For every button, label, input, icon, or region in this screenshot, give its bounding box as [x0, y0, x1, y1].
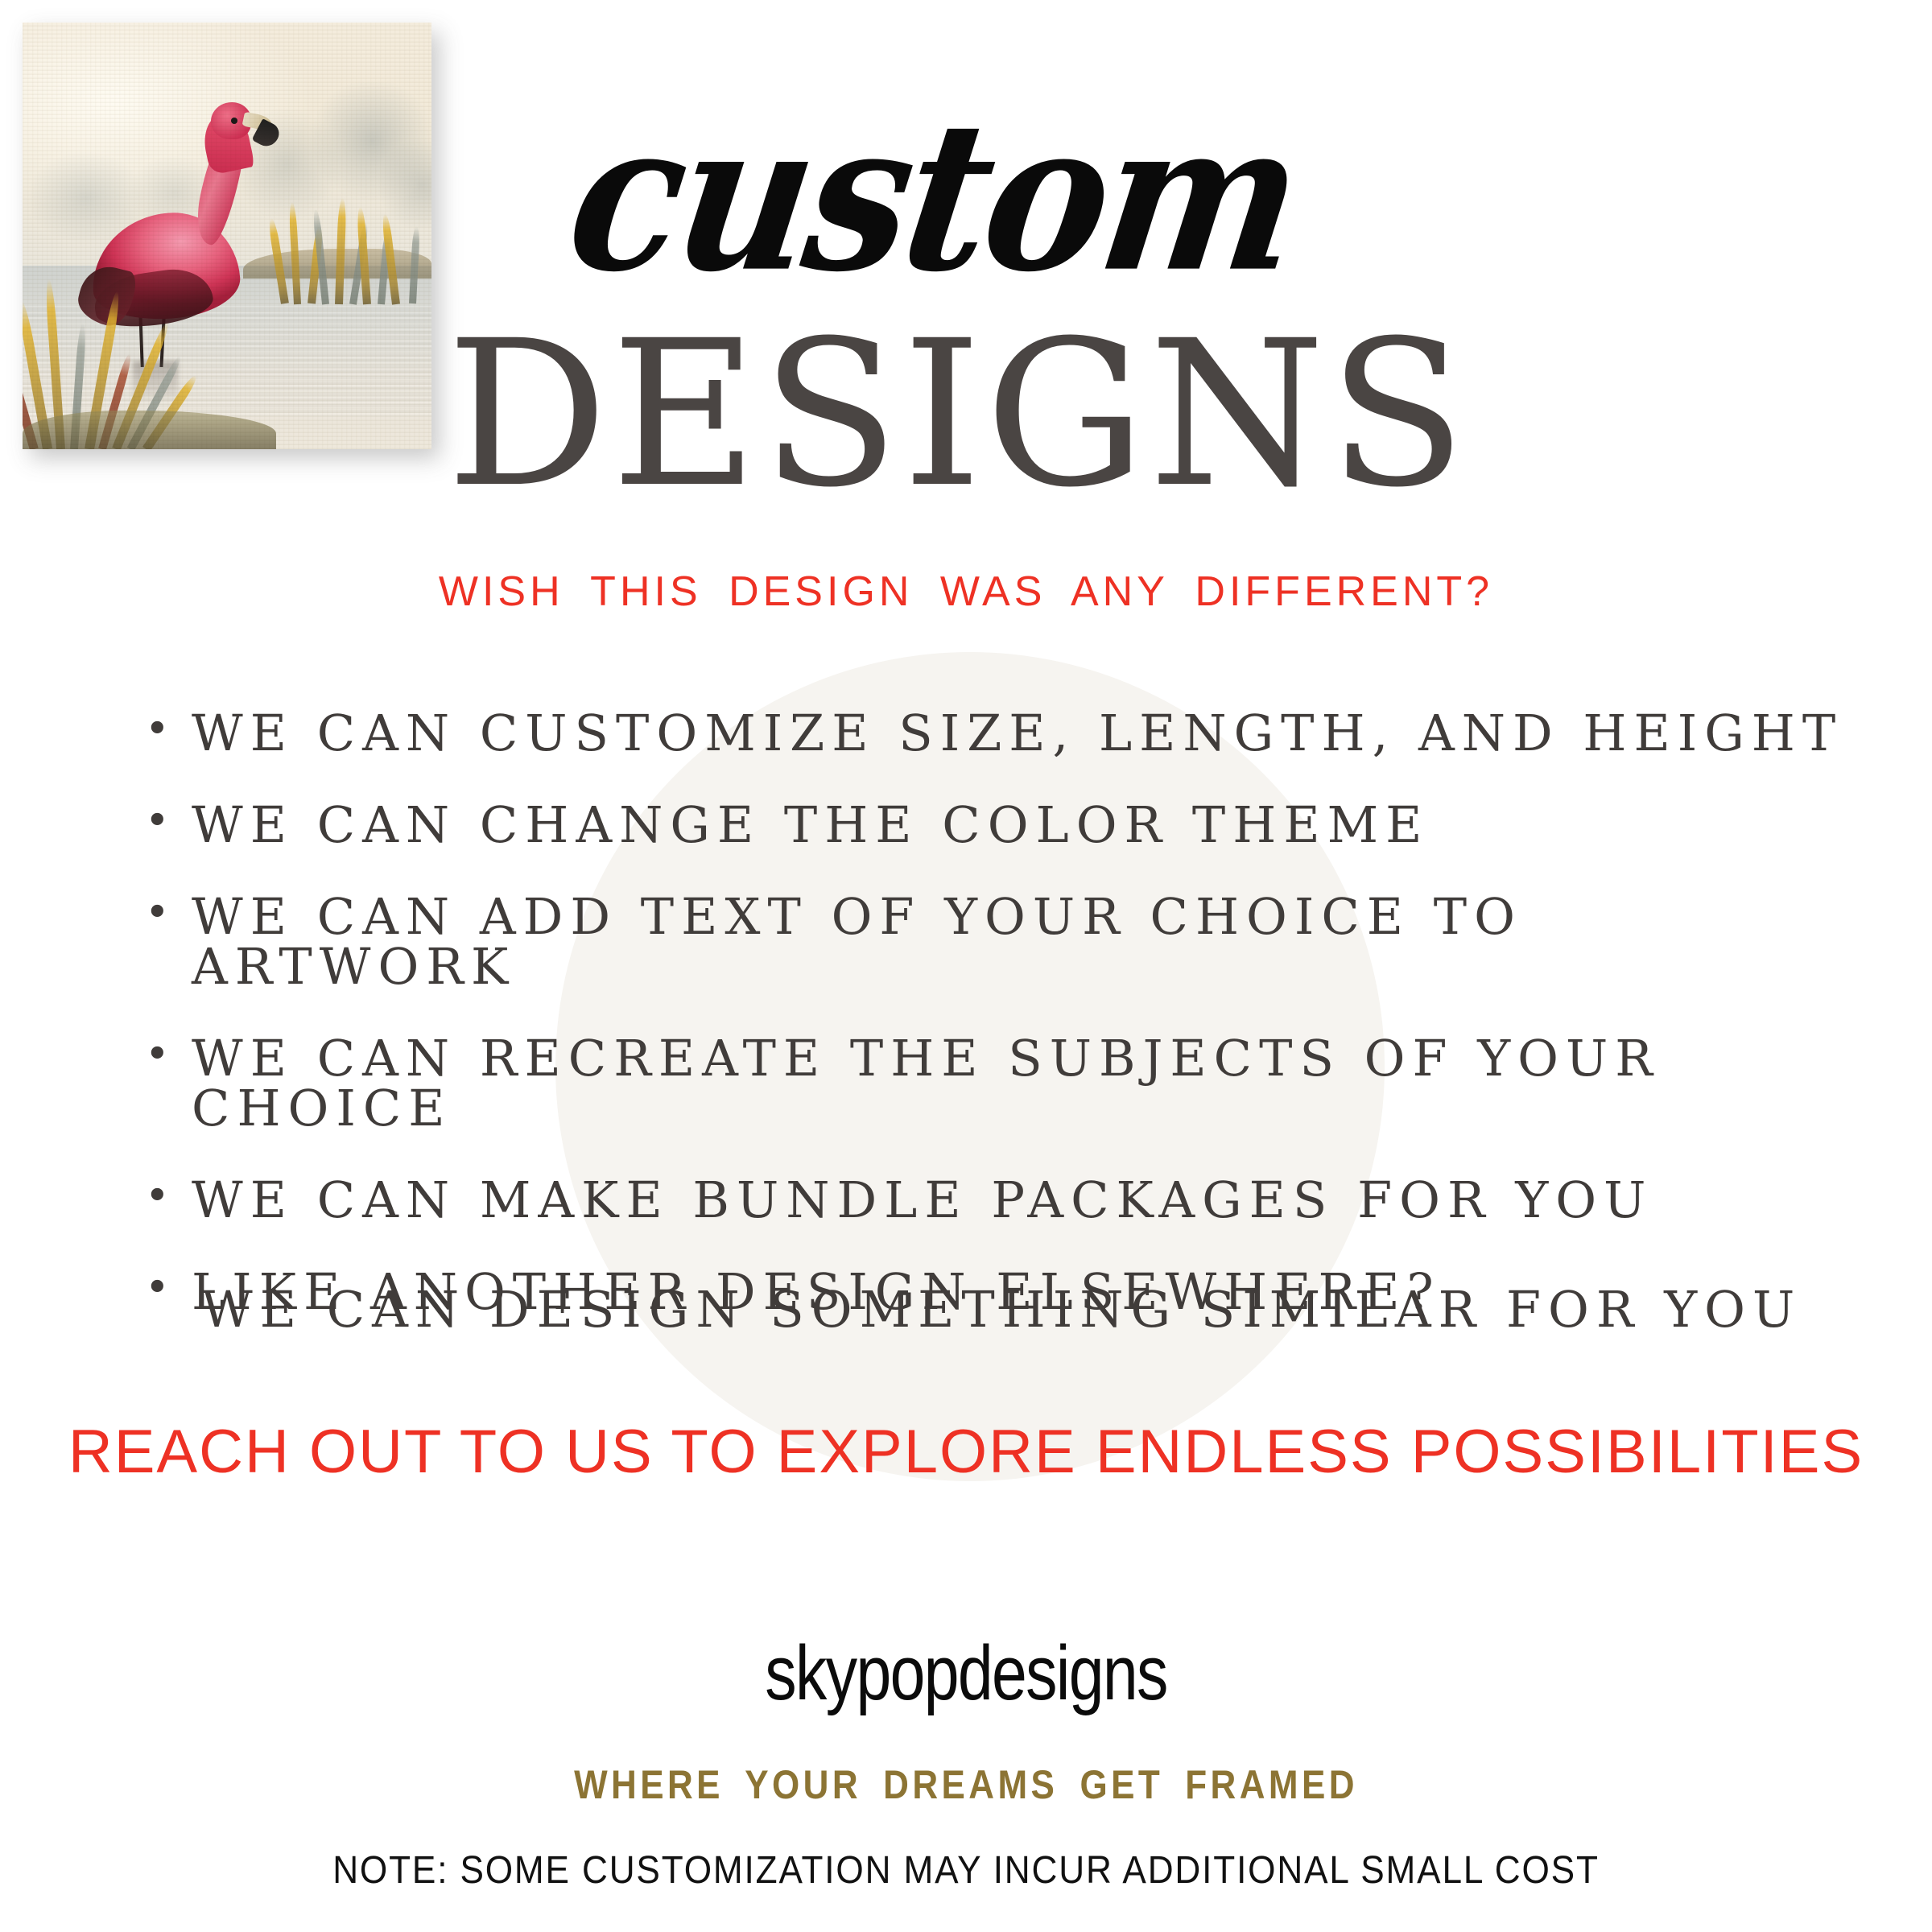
bullet-icon: • [145, 800, 192, 842]
list-item: • WE CAN MAKE BUNDLE PACKAGES FOR YOU [145, 1175, 1851, 1225]
promo-poster: custom DESIGNS WISH THIS DESIGN WAS ANY … [0, 0, 1932, 1932]
headline-main-word: DESIGNS [0, 314, 1932, 515]
feature-label: WE CAN CHANGE THE COLOR THEME [192, 800, 1851, 850]
bullet-icon: • [145, 1267, 192, 1309]
feature-label: WE CAN RECREATE THE SUBJECTS OF YOUR CHO… [192, 1034, 1851, 1133]
bullet-icon: • [145, 708, 192, 750]
feature-label: WE CAN MAKE BUNDLE PACKAGES FOR YOU [192, 1175, 1851, 1225]
bullet-icon: • [145, 1175, 192, 1217]
bullet-icon: • [145, 1034, 192, 1075]
feature-label: WE CAN CUSTOMIZE SIZE, LENGTH, AND HEIGH… [192, 708, 1851, 758]
brand-tagline: WHERE YOUR DREAMS GET FRAMED [116, 1761, 1816, 1808]
bullet-icon: • [145, 892, 192, 934]
headline-script-word: custom [0, 93, 1932, 299]
list-item: • WE CAN RECREATE THE SUBJECTS OF YOUR C… [145, 1034, 1851, 1133]
footer-note: NOTE: SOME CUSTOMIZATION MAY INCUR ADDIT… [77, 1848, 1855, 1893]
feature-label: WE CAN ADD TEXT OF YOUR CHOICE TO ARTWOR… [192, 892, 1851, 992]
call-to-action-text[interactable]: REACH OUT TO US TO EXPLORE ENDLESS POSSI… [0, 1417, 1932, 1487]
list-item: • WE CAN CHANGE THE COLOR THEME [145, 800, 1851, 850]
feature-continuation-text: WE CAN DESIGN SOMETHING SIMILAR FOR YOU [201, 1280, 1811, 1339]
brand-logo-text: skypopdesigns [174, 1629, 1758, 1718]
list-item: • WE CAN ADD TEXT OF YOUR CHOICE TO ARTW… [145, 892, 1851, 992]
list-item: • WE CAN CUSTOMIZE SIZE, LENGTH, AND HEI… [145, 708, 1851, 758]
headline-subtitle: WISH THIS DESIGN WAS ANY DIFFERENT? [0, 568, 1932, 616]
feature-list: • WE CAN CUSTOMIZE SIZE, LENGTH, AND HEI… [145, 708, 1851, 1359]
